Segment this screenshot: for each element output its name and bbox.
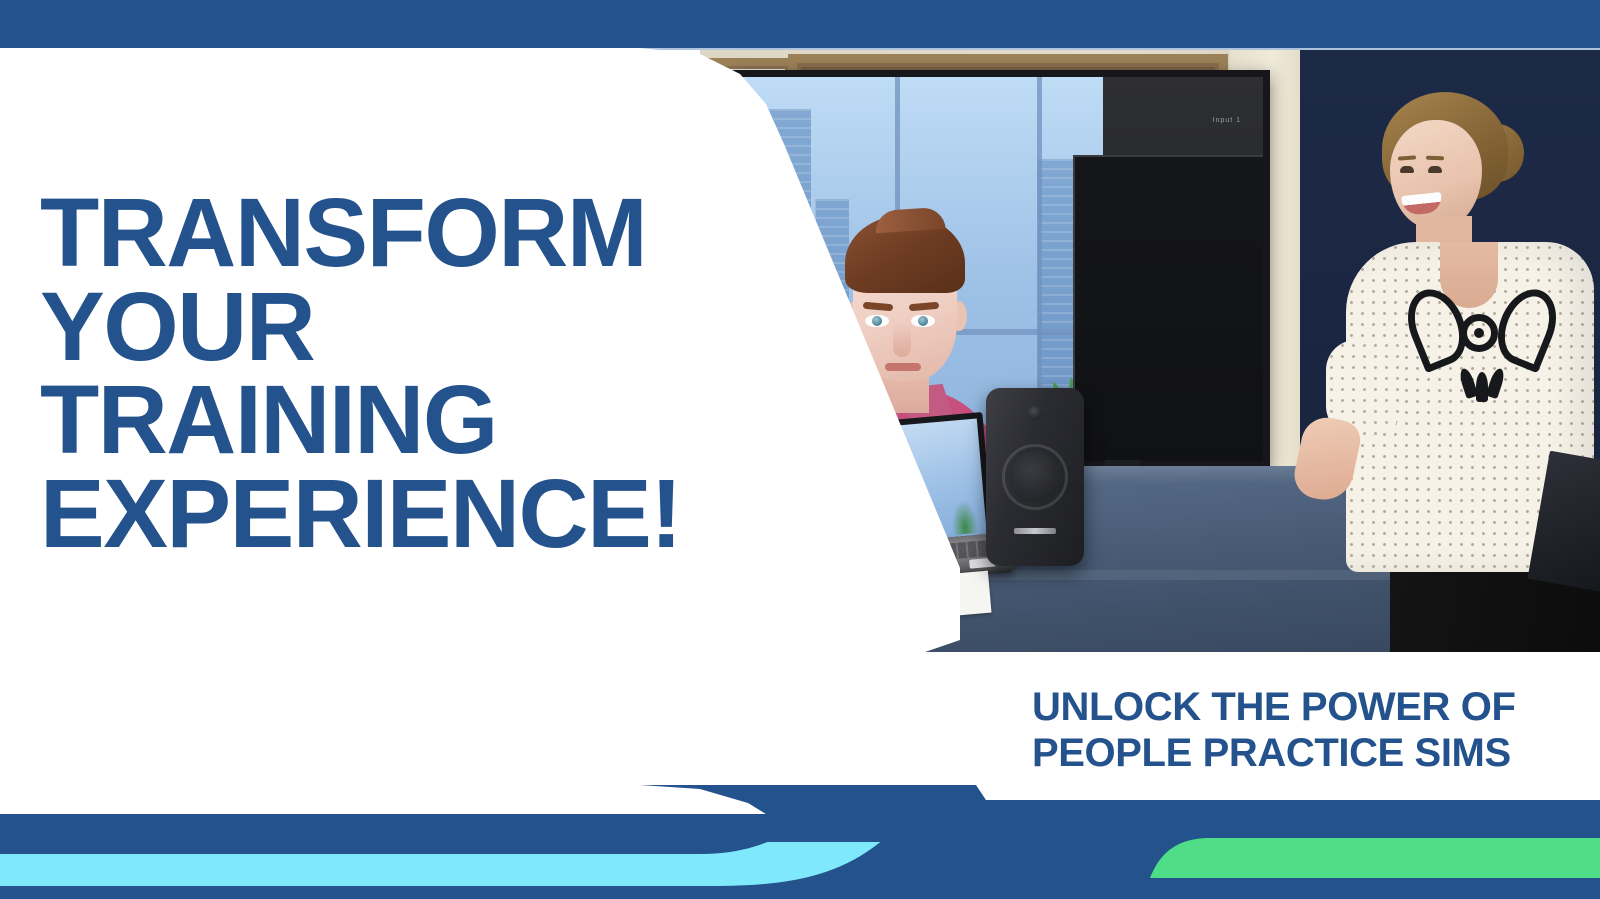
presenter-eye	[1400, 166, 1414, 173]
avatar-eye	[911, 315, 935, 327]
headline-line-2: YOUR	[40, 280, 780, 374]
caption-line-2: PEOPLE PRACTICE SIMS	[1032, 730, 1572, 776]
headline-line-3: TRAINING	[40, 373, 780, 467]
blouse-paisley-embroidery	[1408, 268, 1558, 418]
headline-line-1: TRANSFORM	[40, 186, 780, 280]
avatar-hair	[845, 215, 965, 293]
presenter-eye	[1428, 166, 1442, 173]
top-navy-band	[0, 0, 1600, 48]
avatar-nose	[893, 323, 911, 357]
cyan-accent-stripe	[0, 842, 1030, 899]
green-accent-stripe	[1150, 838, 1600, 878]
presenter	[1320, 78, 1600, 652]
speaker-cone	[1010, 452, 1060, 502]
caption-line-1: UNLOCK THE POWER OF	[1032, 684, 1572, 730]
screen-dark-inset	[1073, 155, 1263, 461]
caption-text: UNLOCK THE POWER OF PEOPLE PRACTICE SIMS	[1032, 684, 1572, 777]
presenter-face	[1390, 120, 1482, 228]
page-title: TRANSFORM YOUR TRAINING EXPERIENCE!	[40, 186, 780, 560]
monitor-input-label: Input 1	[1213, 117, 1241, 124]
avatar-eye	[865, 315, 889, 327]
speaker-tweeter	[1028, 406, 1042, 420]
marketing-banner: Cen	[0, 0, 1600, 899]
presenter-eyebrow	[1426, 156, 1444, 161]
avatar-mouth	[885, 363, 921, 371]
pa-speaker	[986, 388, 1084, 566]
caption-card: UNLOCK THE POWER OF PEOPLE PRACTICE SIMS	[958, 658, 1600, 800]
speaker-badge	[1014, 528, 1056, 534]
headline-line-4: EXPERIENCE!	[40, 467, 780, 561]
